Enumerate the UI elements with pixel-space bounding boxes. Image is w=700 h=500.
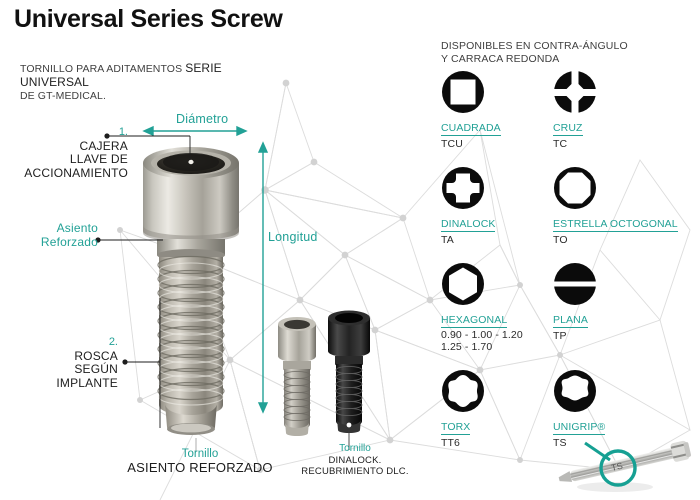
driver-item-cruz[interactable]: CRUZ TC	[553, 70, 665, 150]
callout-rosca-number: 2.	[18, 336, 118, 350]
torx-drive-icon	[441, 369, 553, 417]
driver-item-dinalock[interactable]: DINALOCK TA	[441, 166, 553, 246]
caption-dinalock-bottom: DINALOCK. RECUBRIMIENTO DLC.	[300, 455, 410, 477]
driver-code: TCU	[441, 138, 553, 150]
availability-line2: Y CARRACA REDONDA	[441, 53, 671, 66]
driver-item-torx[interactable]: TORX TT6	[441, 369, 553, 449]
driver-tool-engraving: TS	[610, 461, 623, 473]
driver-row-1: CUADRADA TCU CRUZ TC	[441, 70, 691, 150]
driver-name: ESTRELLA OCTOGONAL	[553, 218, 678, 232]
driver-code: TC	[553, 138, 665, 150]
driver-code: TA	[441, 234, 553, 246]
callout-asiento-line2: Reforzado	[18, 236, 98, 250]
driver-code: TP	[553, 330, 665, 342]
hexagon-drive-icon	[441, 262, 553, 310]
diameter-label: Diámetro	[176, 112, 228, 126]
callout-cajera-line2: LLAVE DE	[18, 153, 128, 167]
infographic-root: Universal Series Screw TORNILLO PARA ADI…	[0, 0, 700, 500]
intro-caption: TORNILLO PARA ADITAMENTOS SERIE UNIVERSA…	[20, 62, 280, 103]
driver-code: TT6	[441, 437, 553, 449]
callout-asiento-reforzado: Asiento Reforzado	[18, 222, 98, 249]
cross-drive-icon	[553, 70, 665, 118]
intro-line2: DE GT-MEDICAL.	[20, 90, 280, 103]
callout-cajera-line1: CAJERA	[18, 140, 128, 154]
driver-code: TO	[553, 234, 665, 246]
driver-name: HEXAGONAL	[441, 314, 507, 328]
callout-rosca-line2: SEGÚN	[18, 363, 118, 377]
unigrip-drive-icon	[553, 369, 665, 417]
driver-name: CRUZ	[553, 122, 583, 136]
main-screw-illustration	[133, 139, 249, 439]
caption-dinalock-top: Tornillo	[300, 442, 410, 455]
dinalock-drive-icon	[441, 166, 553, 214]
octagon-star-drive-icon	[553, 166, 665, 214]
driver-types-grid: CUADRADA TCU CRUZ TC	[441, 70, 691, 449]
callout-rosca-line3: IMPLANTE	[18, 377, 118, 391]
length-label: Longitud	[268, 230, 318, 244]
caption-asiento-bottom: ASIENTO REFORZADO	[110, 461, 290, 474]
callout-cajera: 1. CAJERA LLAVE DE ACCIONAMIENTO	[18, 126, 128, 180]
callout-cajera-number: 1.	[18, 126, 128, 140]
driver-name: CUADRADA	[441, 122, 501, 136]
availability-heading: DISPONIBLES EN CONTRA-ÁNGULO Y CARRACA R…	[441, 40, 671, 65]
callout-asiento-line1: Asiento	[18, 222, 98, 236]
caption-dinalock: Tornillo DINALOCK. RECUBRIMIENTO DLC.	[300, 442, 410, 477]
driver-row-2: DINALOCK TA ESTRELLA OCTOGONAL TO	[441, 166, 691, 246]
driver-item-cuadrada[interactable]: CUADRADA TCU	[441, 70, 553, 150]
driver-name: PLANA	[553, 314, 588, 328]
driver-tool-illustration: TS	[555, 425, 700, 500]
small-silver-screw-illustration	[272, 312, 322, 442]
callout-rosca-line1: ROSCA	[18, 350, 118, 364]
driver-item-estrella-octogonal[interactable]: ESTRELLA OCTOGONAL TO	[553, 166, 665, 246]
caption-asiento-reforzado: Tornillo ASIENTO REFORZADO	[110, 448, 290, 474]
driver-row-3: HEXAGONAL 0.90 - 1.00 - 1.20 1.25 - 1.70…	[441, 262, 691, 353]
driver-name: DINALOCK	[441, 218, 495, 232]
availability-line1: DISPONIBLES EN CONTRA-ÁNGULO	[441, 40, 671, 53]
driver-item-hexagonal[interactable]: HEXAGONAL 0.90 - 1.00 - 1.20 1.25 - 1.70	[441, 262, 553, 353]
square-drive-icon	[441, 70, 553, 118]
callout-cajera-line3: ACCIONAMIENTO	[18, 167, 128, 181]
driver-item-plana[interactable]: PLANA TP	[553, 262, 665, 353]
driver-name: TORX	[441, 421, 470, 435]
driver-code: 0.90 - 1.00 - 1.20 1.25 - 1.70	[441, 330, 553, 353]
small-black-dinalock-screw-illustration	[322, 305, 376, 440]
intro-line1-prefix: TORNILLO PARA ADITAMENTOS	[20, 63, 182, 75]
page-title: Universal Series Screw	[14, 5, 283, 34]
flat-drive-icon	[553, 262, 665, 310]
callout-rosca: 2. ROSCA SEGÚN IMPLANTE	[18, 336, 118, 390]
